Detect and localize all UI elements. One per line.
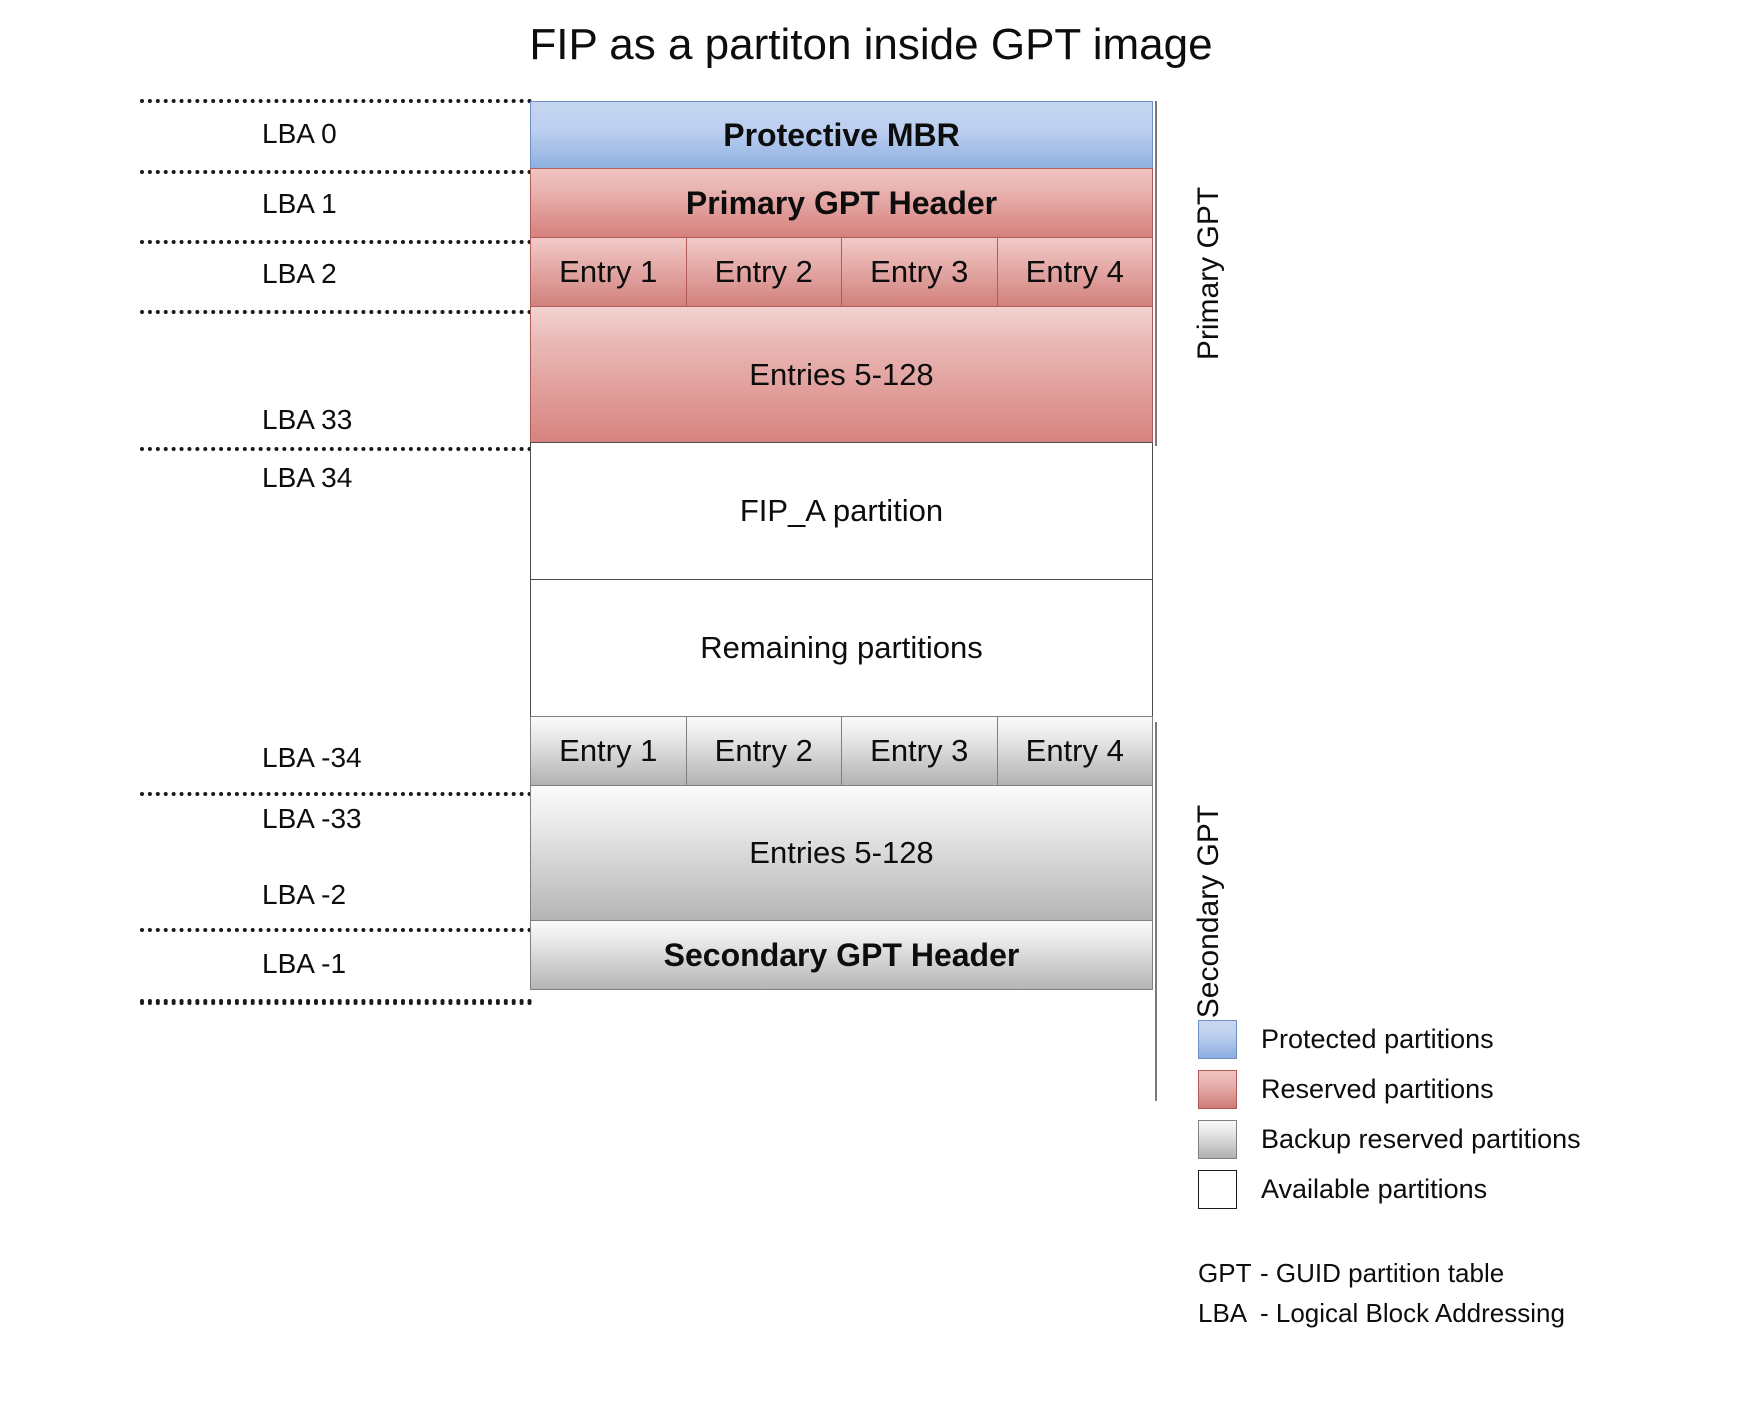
abbreviation-key: LBA <box>1198 1298 1260 1329</box>
entry-cell-label: Entry 4 <box>1026 254 1124 290</box>
band-label: Remaining partitions <box>700 630 983 666</box>
abbreviations-list: GPT- GUID partition tableLBA- Logical Bl… <box>1198 1258 1565 1338</box>
lba-label: LBA 33 <box>262 404 352 436</box>
lba-label: LBA 2 <box>262 258 337 290</box>
abbreviation-row: LBA- Logical Block Addressing <box>1198 1298 1565 1338</box>
legend-label: Backup reserved partitions <box>1261 1124 1581 1155</box>
legend-label: Protected partitions <box>1261 1024 1494 1055</box>
band-primary-entries-5-128: Entries 5-128 <box>530 306 1153 443</box>
band-secondary-entries-5-128: Entries 5-128 <box>530 785 1153 921</box>
band-label: FIP_A partition <box>740 493 943 529</box>
guide-line <box>140 928 532 932</box>
legend-swatch-icon <box>1198 1020 1237 1059</box>
legend-swatch-icon <box>1198 1120 1237 1159</box>
lba-label: LBA -33 <box>262 803 362 835</box>
abbreviation-value: - GUID partition table <box>1260 1258 1504 1289</box>
legend-swatch-icon <box>1198 1070 1237 1109</box>
band-secondary-gpt-header: Secondary GPT Header <box>530 920 1153 990</box>
side-label-primary-gpt: Primary GPT <box>1192 101 1226 446</box>
legend-item-available-partitions: Available partitions <box>1198 1164 1618 1214</box>
lba-label: LBA -1 <box>262 948 346 980</box>
abbreviation-key: GPT <box>1198 1258 1260 1289</box>
guide-line <box>140 792 532 796</box>
band-protective-mbr: Protective MBR <box>530 101 1153 169</box>
legend-item-protected-partitions: Protected partitions <box>1198 1014 1618 1064</box>
legend-item-reserved-partitions: Reserved partitions <box>1198 1064 1618 1114</box>
entry-cell: Entry 4 <box>997 716 1154 786</box>
entry-cell-label: Entry 4 <box>1026 733 1124 769</box>
entry-cell-label: Entry 1 <box>559 733 657 769</box>
band-fip-a-partition: FIP_A partition <box>530 442 1153 580</box>
band-label: Entries 5-128 <box>749 835 933 871</box>
entry-cell-label: Entry 3 <box>870 733 968 769</box>
lba-label: LBA 34 <box>262 462 352 494</box>
guide-line <box>140 170 532 174</box>
entry-cell: Entry 2 <box>686 237 843 307</box>
lba-label: LBA -2 <box>262 879 346 911</box>
band-label: Secondary GPT Header <box>664 937 1020 974</box>
band-label: Protective MBR <box>723 117 960 154</box>
guide-line <box>140 240 532 244</box>
guide-line <box>140 447 532 451</box>
entry-cell-label: Entry 1 <box>559 254 657 290</box>
guide-line <box>140 1001 532 1005</box>
lba-label: LBA 1 <box>262 188 337 220</box>
entry-cell: Entry 4 <box>997 237 1154 307</box>
legend-label: Available partitions <box>1261 1174 1487 1205</box>
band-label: Primary GPT Header <box>686 185 997 222</box>
side-rule-secondary-gpt <box>1155 722 1157 1101</box>
entry-cell-label: Entry 2 <box>715 733 813 769</box>
lba-label: LBA 0 <box>262 118 337 150</box>
entry-cell: Entry 3 <box>841 237 998 307</box>
entry-cell: Entry 2 <box>686 716 843 786</box>
entry-cell: Entry 3 <box>841 716 998 786</box>
band-label: Entries 5-128 <box>749 357 933 393</box>
entry-cell: Entry 1 <box>530 237 687 307</box>
legend-swatch-icon <box>1198 1170 1237 1209</box>
abbreviation-row: GPT- GUID partition table <box>1198 1258 1565 1298</box>
entry-row-secondary: Entry 1Entry 2Entry 3Entry 4 <box>530 716 1153 786</box>
entry-row-primary: Entry 1Entry 2Entry 3Entry 4 <box>530 237 1153 307</box>
page-title: FIP as a partiton inside GPT image <box>0 20 1742 70</box>
band-primary-gpt-header: Primary GPT Header <box>530 168 1153 238</box>
band-remaining-partitions: Remaining partitions <box>530 579 1153 717</box>
entry-cell: Entry 1 <box>530 716 687 786</box>
entry-cell-label: Entry 2 <box>715 254 813 290</box>
side-rule-primary-gpt <box>1155 101 1157 446</box>
legend-item-backup-reserved-partitions: Backup reserved partitions <box>1198 1114 1618 1164</box>
legend: Protected partitionsReserved partitionsB… <box>1198 1014 1618 1214</box>
guide-line <box>140 310 532 314</box>
entry-cell-label: Entry 3 <box>870 254 968 290</box>
legend-label: Reserved partitions <box>1261 1074 1494 1105</box>
abbreviation-value: - Logical Block Addressing <box>1260 1298 1565 1329</box>
guide-line <box>140 99 532 103</box>
lba-label: LBA -34 <box>262 742 362 774</box>
partition-stack: Protective MBRPrimary GPT HeaderEntry 1E… <box>530 101 1153 990</box>
